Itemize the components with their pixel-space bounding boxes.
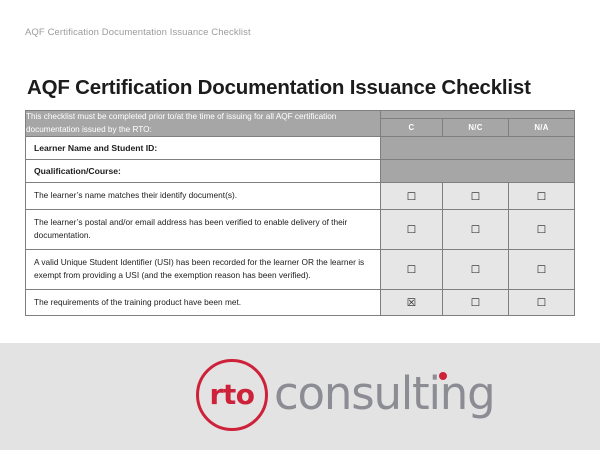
logo-circle-mark: rto	[196, 359, 268, 431]
checklist-table: This checklist must be completed prior t…	[25, 110, 575, 316]
checkbox-icon[interactable]: ☐	[471, 265, 480, 276]
checkbox-cell-nc[interactable]: ☐	[443, 249, 509, 289]
checkbox-icon[interactable]: ☐	[471, 298, 480, 309]
checkbox-cell-na[interactable]: ☐	[509, 249, 575, 289]
field-value-learner-name[interactable]	[381, 137, 575, 160]
checkbox-cell-nc[interactable]: ☐	[443, 209, 509, 249]
checkbox-icon[interactable]: ☐	[407, 265, 416, 276]
branding-footer: rto consulting	[0, 343, 600, 450]
header-blank-cell	[381, 111, 575, 119]
document-page: AQF Certification Documentation Issuance…	[0, 0, 600, 450]
checkbox-cell-nc[interactable]: ☐	[443, 289, 509, 315]
checkbox-cell-c[interactable]: ☒	[381, 289, 443, 315]
column-header-nc: N/C	[443, 119, 509, 137]
checkbox-icon[interactable]: ☐	[407, 192, 416, 203]
table-row: The learner’s postal and/or email addres…	[26, 209, 575, 249]
rto-consulting-logo: rto consulting	[196, 359, 495, 431]
checkbox-icon[interactable]: ☐	[537, 225, 546, 236]
checkbox-cell-c[interactable]: ☐	[381, 183, 443, 209]
logo-mark-text: rto	[196, 359, 268, 431]
checklist-item-label: The learner’s postal and/or email addres…	[26, 209, 381, 249]
checkbox-cell-nc[interactable]: ☐	[443, 183, 509, 209]
checklist-intro-text: This checklist must be completed prior t…	[26, 111, 381, 137]
checkbox-cell-c[interactable]: ☐	[381, 249, 443, 289]
checkbox-icon[interactable]: ☐	[407, 225, 416, 236]
checklist-item-label: A valid Unique Student Identifier (USI) …	[26, 249, 381, 289]
running-header: AQF Certification Documentation Issuance…	[25, 27, 251, 38]
field-label-learner-name: Learner Name and Student ID:	[26, 137, 381, 160]
table-row: The requirements of the training product…	[26, 289, 575, 315]
page-title: AQF Certification Documentation Issuance…	[27, 76, 531, 100]
checkbox-checked-icon[interactable]: ☒	[407, 298, 416, 309]
column-header-na: N/A	[509, 119, 575, 137]
field-label-qualification: Qualification/Course:	[26, 160, 381, 183]
column-header-c: C	[381, 119, 443, 137]
logo-wordmark-text: consulting	[274, 367, 495, 420]
checkbox-icon[interactable]: ☐	[471, 225, 480, 236]
checkbox-icon[interactable]: ☐	[537, 298, 546, 309]
table-row: Learner Name and Student ID:	[26, 137, 575, 160]
logo-red-dot-icon	[439, 372, 447, 380]
checkbox-cell-na[interactable]: ☐	[509, 183, 575, 209]
logo-wordmark: consulting	[274, 371, 495, 420]
checkbox-cell-na[interactable]: ☐	[509, 289, 575, 315]
checkbox-cell-c[interactable]: ☐	[381, 209, 443, 249]
field-value-qualification[interactable]	[381, 160, 575, 183]
checkbox-icon[interactable]: ☐	[471, 192, 480, 203]
checkbox-icon[interactable]: ☐	[537, 265, 546, 276]
checklist-item-label: The requirements of the training product…	[26, 289, 381, 315]
checkbox-cell-na[interactable]: ☐	[509, 209, 575, 249]
checkbox-icon[interactable]: ☐	[537, 192, 546, 203]
checklist-item-label: The learner’s name matches their identif…	[26, 183, 381, 209]
table-row: Qualification/Course:	[26, 160, 575, 183]
table-row: The learner’s name matches their identif…	[26, 183, 575, 209]
table-header-row: This checklist must be completed prior t…	[26, 111, 575, 119]
table-row: A valid Unique Student Identifier (USI) …	[26, 249, 575, 289]
